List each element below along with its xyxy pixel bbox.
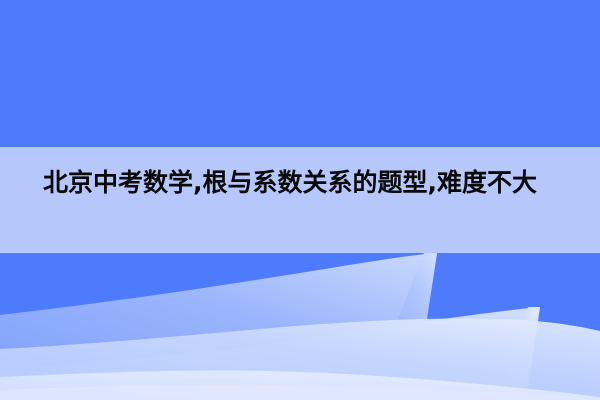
page-title: 北京中考数学,根与系数关系的题型,难度不大 [43,164,568,202]
article-cover-banner: 北京中考数学,根与系数关系的题型,难度不大 [0,0,600,400]
bottom-wave-band [0,253,600,400]
abstract-blue-wave-graphic [0,253,600,400]
top-color-band [0,0,600,147]
